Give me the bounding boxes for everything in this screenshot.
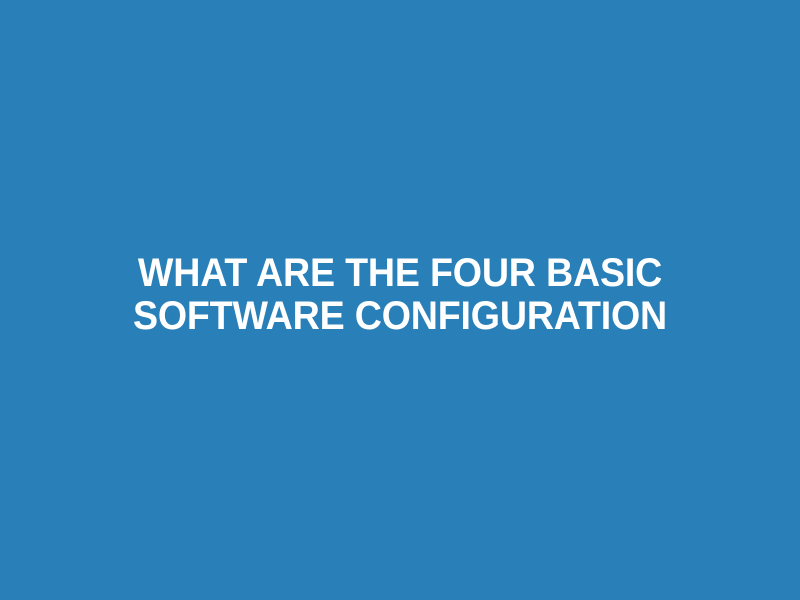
title-block: WHAT ARE THE FOUR BASIC SOFTWARE CONFIGU… <box>0 252 800 338</box>
page-title: WHAT ARE THE FOUR BASIC SOFTWARE CONFIGU… <box>80 252 719 338</box>
hero-banner: WHAT ARE THE FOUR BASIC SOFTWARE CONFIGU… <box>0 0 800 600</box>
